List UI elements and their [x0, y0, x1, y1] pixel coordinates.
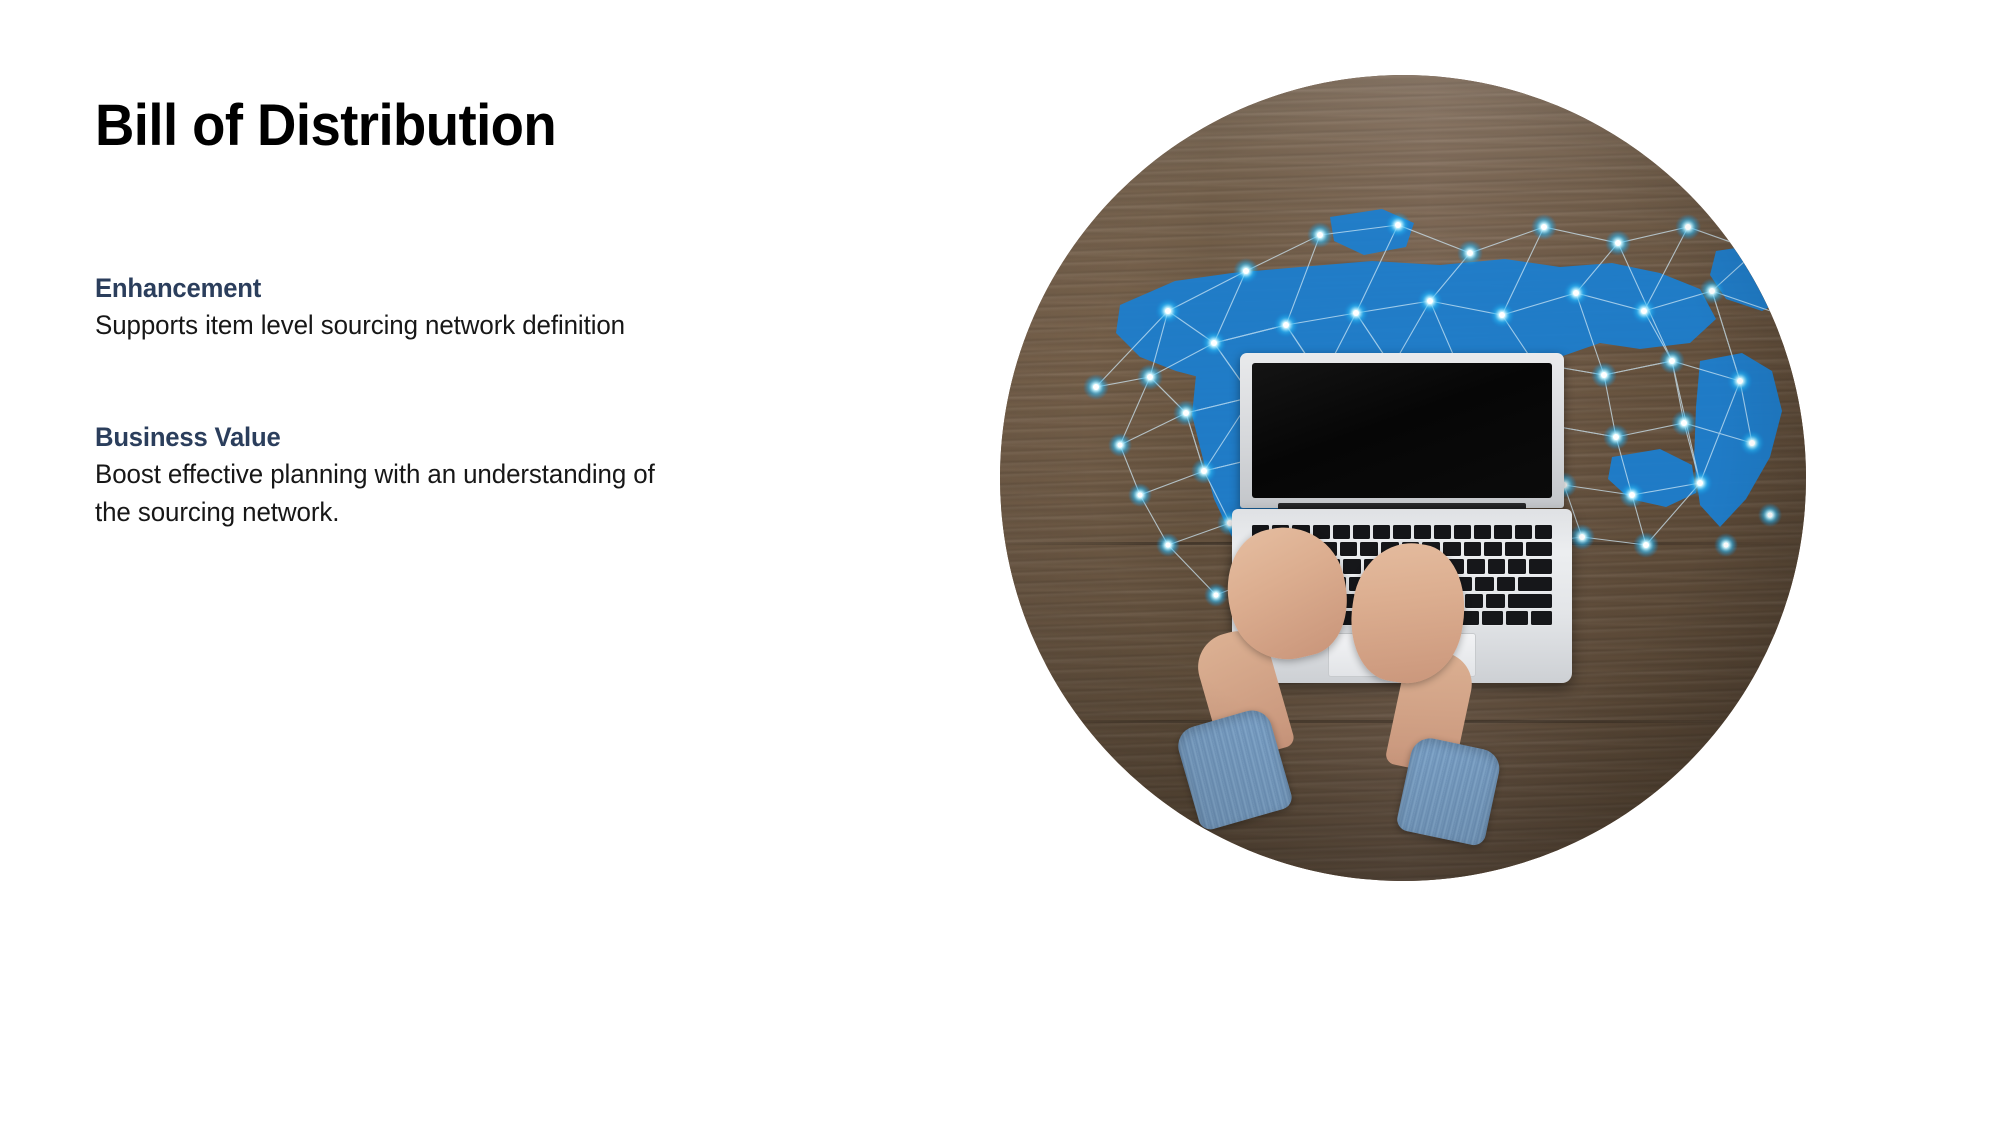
laptop-screen	[1252, 363, 1552, 498]
block-body-business-value: Boost effective planning with an underst…	[95, 455, 671, 532]
page-title: Bill of Distribution	[95, 95, 809, 158]
global-sourcing-network-photo	[1000, 75, 1806, 881]
laptop-lid	[1240, 353, 1564, 508]
text-column: Bill of Distribution Enhancement Support…	[95, 95, 855, 532]
block-body-enhancement: Supports item level sourcing network def…	[95, 306, 671, 344]
slide-canvas: Bill of Distribution Enhancement Support…	[0, 0, 2000, 1125]
block-enhancement: Enhancement Supports item level sourcing…	[95, 273, 855, 344]
block-business-value: Business Value Boost effective planning …	[95, 422, 855, 532]
block-heading-enhancement: Enhancement	[95, 273, 817, 304]
content-blocks: Enhancement Supports item level sourcing…	[95, 273, 855, 532]
block-heading-business-value: Business Value	[95, 422, 817, 453]
